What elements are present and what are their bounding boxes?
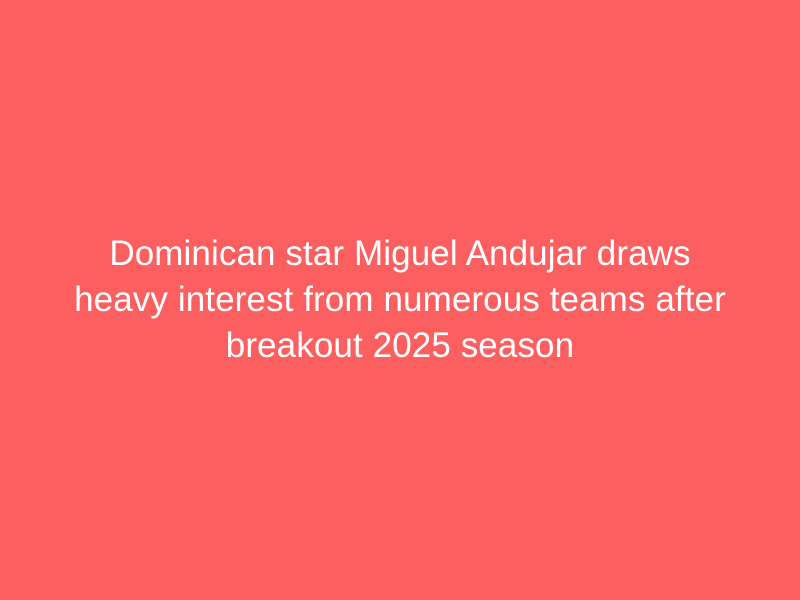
headline-card: Dominican star Miguel Andujar draws heav… xyxy=(0,0,800,600)
headline-title: Dominican star Miguel Andujar draws heav… xyxy=(64,231,736,369)
headline-block: Dominican star Miguel Andujar draws heav… xyxy=(64,231,736,369)
